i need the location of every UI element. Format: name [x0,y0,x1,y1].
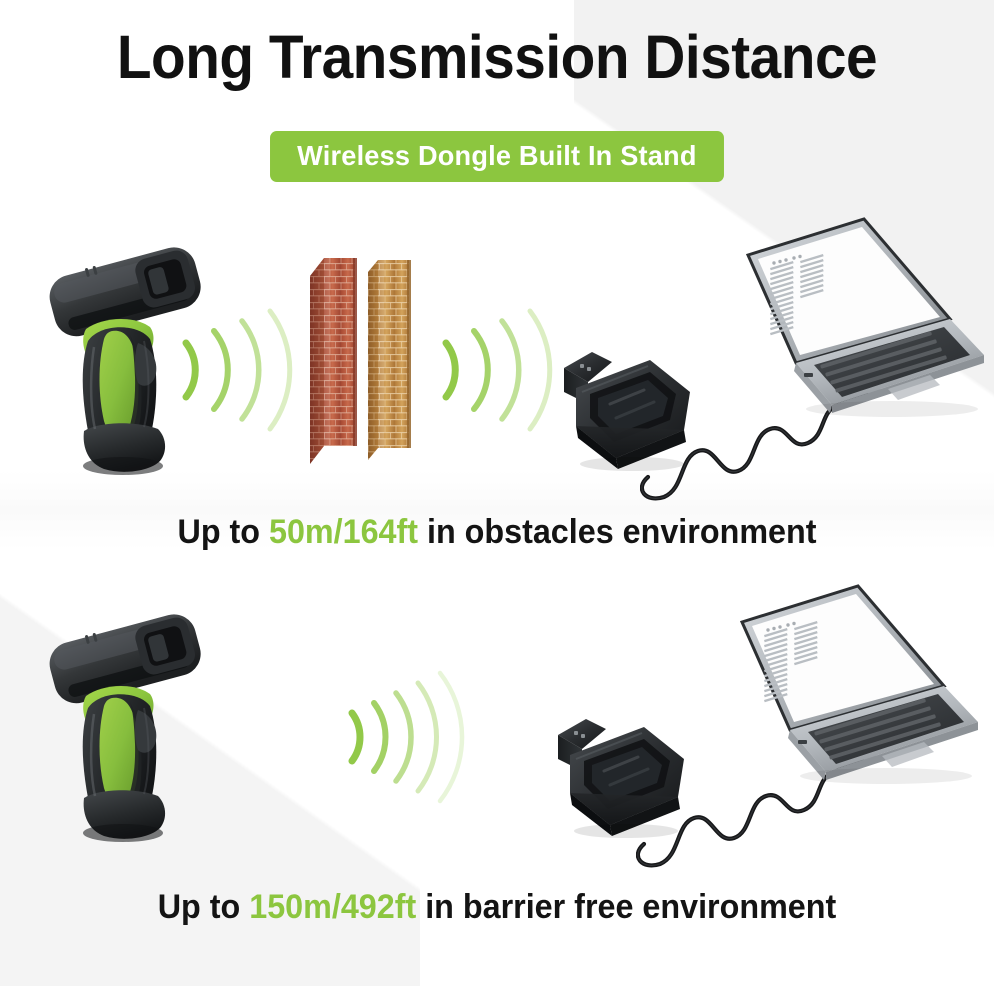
caption-obstacles: Up to 50m/164ft in obstacles environment [25,512,969,552]
scenario-row-obstacles [0,205,994,515]
caption-distance: 50m/164ft [269,513,418,551]
infographic-page: Long Transmission Distance Wireless Dong… [0,0,994,986]
caption-prefix: Up to [177,513,268,551]
caption-distance: 150m/492ft [249,888,416,926]
caption-prefix: Up to [158,888,249,926]
laptop-icon [712,213,992,443]
page-title: Long Transmission Distance [35,22,959,92]
scenario-row-barrier-free [0,570,994,880]
caption-suffix: in obstacles environment [418,513,816,551]
caption-suffix: in barrier free environment [416,888,836,926]
scene-barrier-free [0,570,994,880]
feature-banner: Wireless Dongle Built In Stand [270,131,724,182]
wireless-signal-waves-icon [170,297,320,442]
banner-container: Wireless Dongle Built In Stand [0,131,994,182]
laptop-icon [706,580,986,810]
caption-barrier-free: Up to 150m/492ft in barrier free environ… [25,887,969,927]
scene-obstacles [0,205,994,515]
brick-wall-icon [308,250,420,480]
wireless-signal-waves-icon [340,665,470,805]
barcode-scanner-icon [38,590,223,855]
